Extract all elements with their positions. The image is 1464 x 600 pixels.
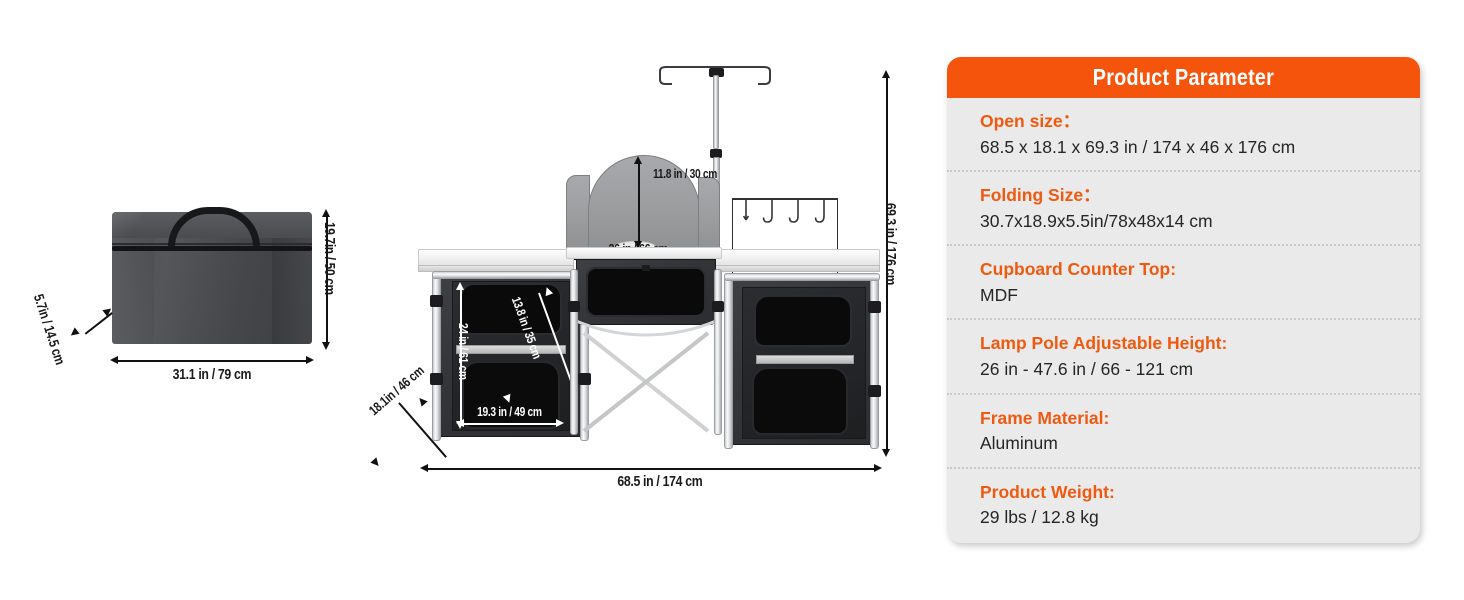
center-left-clamp bbox=[568, 301, 580, 312]
left-leg-clamp-lower bbox=[430, 373, 443, 385]
spec-row-folding-size: Folding Size： 30.7x18.9x5.5in/78x48x14 c… bbox=[947, 172, 1420, 246]
product-parameter-rows: Open size： 68.5 x 18.1 x 69.3 in / 174 x… bbox=[947, 98, 1420, 543]
center-cross-brace-icon bbox=[570, 319, 722, 437]
center-hanging-pocket-opening bbox=[586, 267, 706, 317]
left-cabinet-top-rail bbox=[432, 271, 590, 279]
bag-width-label: 31.1 in / 79 cm bbox=[173, 366, 252, 383]
product-parameter-header: Product Parameter bbox=[947, 57, 1420, 98]
bag-depth-arrow-head-b bbox=[68, 327, 79, 338]
overall-width-arrow-left bbox=[420, 464, 428, 472]
spec-value-cupboard-counter-top: MDF bbox=[980, 283, 1420, 308]
right-cabinet-leg-rear bbox=[870, 273, 879, 449]
left-leg-clamp-upper bbox=[430, 295, 443, 307]
bag-height-label: 19.7in / 50 cm bbox=[321, 222, 337, 295]
carry-bag-illustration: 19.7in / 50 cm 31.1 in / 79 cm 5.7in / 1… bbox=[0, 0, 400, 420]
cabinet-width-arrow-right bbox=[556, 419, 564, 427]
overall-depth-label: 18.1in / 46 cm bbox=[366, 363, 427, 419]
center-right-clamp bbox=[712, 301, 724, 312]
overall-width-label: 68.5 in / 174 cm bbox=[617, 473, 702, 490]
spec-row-frame-material: Frame Material: Aluminum bbox=[947, 395, 1420, 469]
right-cabinet-door-panel bbox=[752, 367, 848, 435]
spec-value-lamp-pole-height: 26 in - 47.6 in / 66 - 121 cm bbox=[980, 357, 1420, 382]
left-cabinet-shelf bbox=[456, 345, 566, 354]
carry-bag-shading-right bbox=[272, 238, 312, 344]
spec-value-frame-material: Aluminum bbox=[980, 431, 1420, 456]
right-cabinet-shelf bbox=[756, 355, 854, 364]
overall-height-label: 69.3 in / 176 cm bbox=[882, 203, 898, 285]
counter-top-center bbox=[566, 247, 722, 259]
center-pocket-tab bbox=[642, 265, 650, 271]
right-cabinet-upper-compartment bbox=[754, 295, 852, 347]
counter-top-right-edge bbox=[714, 265, 880, 272]
bag-height-arrow-bottom bbox=[322, 342, 330, 350]
center-leg-right bbox=[714, 269, 722, 435]
bag-width-arrow-right bbox=[306, 356, 314, 364]
spec-value-product-weight: 29 lbs / 12.8 kg bbox=[980, 505, 1420, 530]
cabinet-width-arrow-line bbox=[462, 423, 558, 425]
spec-label-open-size: Open size： bbox=[980, 110, 1420, 134]
cabinet-width-label: 19.3 in / 49 cm bbox=[477, 405, 542, 419]
spec-label-cupboard-counter-top: Cupboard Counter Top: bbox=[980, 258, 1420, 282]
windscreen-height-arrow-line bbox=[638, 163, 640, 241]
spec-row-cupboard-counter-top: Cupboard Counter Top: MDF bbox=[947, 246, 1420, 320]
carry-bag-shading-left bbox=[112, 238, 154, 344]
center-leg-left bbox=[570, 269, 578, 435]
right-cabinet-top-rail bbox=[724, 273, 880, 281]
cabinet-height-arrow-top bbox=[456, 282, 464, 290]
product-parameter-panel: Product Parameter Open size： 68.5 x 18.1… bbox=[947, 57, 1420, 543]
camp-kitchen-illustration: 11.8 in / 30 cm 26 in / 66 cm 24 in / 61… bbox=[370, 55, 910, 485]
right-cabinet-leg-front bbox=[724, 273, 733, 449]
spec-label-product-weight: Product Weight: bbox=[980, 481, 1420, 505]
right-leg-clamp-lower bbox=[868, 385, 881, 397]
spec-label-frame-material: Frame Material: bbox=[980, 407, 1420, 431]
carry-bag-crease bbox=[112, 212, 142, 238]
overall-height-arrow-bottom bbox=[882, 449, 890, 457]
lamp-pole-upper-section bbox=[713, 75, 719, 149]
bag-width-arrow-line bbox=[116, 360, 308, 362]
windscreen-panel-left bbox=[566, 175, 590, 253]
spec-row-open-size: Open size： 68.5 x 18.1 x 69.3 in / 174 x… bbox=[947, 98, 1420, 172]
bag-depth-label: 5.7in / 14.5 cm bbox=[31, 292, 69, 366]
product-spec-illustration: 19.7in / 50 cm 31.1 in / 79 cm 5.7in / 1… bbox=[0, 0, 1464, 600]
overall-depth-arrow-head-b bbox=[370, 457, 381, 468]
windscreen-panel-right bbox=[698, 177, 720, 253]
spec-row-lamp-pole-height: Lamp Pole Adjustable Height: 26 in - 47.… bbox=[947, 320, 1420, 394]
windscreen-height-arrow-top bbox=[634, 156, 642, 164]
utensil-rail-hooks-icon bbox=[732, 198, 840, 238]
overall-depth-arrow-head-a bbox=[416, 395, 427, 406]
overall-height-arrow-top bbox=[882, 70, 890, 78]
cabinet-height-label: 24 in / 61 cm bbox=[456, 323, 470, 380]
spec-label-lamp-pole-height: Lamp Pole Adjustable Height: bbox=[980, 332, 1420, 356]
right-leg-clamp-upper bbox=[868, 301, 881, 313]
spec-value-open-size: 68.5 x 18.1 x 69.3 in / 174 x 46 x 176 c… bbox=[980, 135, 1420, 160]
spec-value-folding-size: 30.7x18.9x5.5in/78x48x14 cm bbox=[980, 209, 1420, 234]
cabinet-width-arrow-left bbox=[456, 419, 464, 427]
windscreen-height-label: 11.8 in / 30 cm bbox=[653, 167, 717, 181]
bag-height-arrow-top bbox=[322, 209, 330, 217]
product-parameter-title: Product Parameter bbox=[1093, 64, 1274, 91]
spec-label-folding-size: Folding Size： bbox=[980, 184, 1420, 208]
overall-width-arrow-line bbox=[426, 468, 876, 470]
overall-width-arrow-right bbox=[874, 464, 882, 472]
bag-width-arrow-left bbox=[110, 356, 118, 364]
spec-row-product-weight: Product Weight: 29 lbs / 12.8 kg bbox=[947, 469, 1420, 541]
